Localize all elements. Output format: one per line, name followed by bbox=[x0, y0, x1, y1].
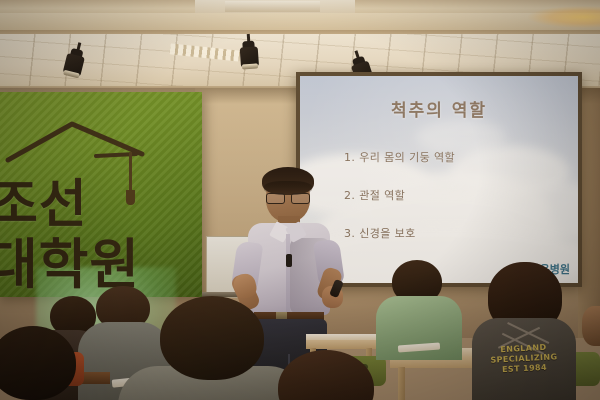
audience-head-foreground bbox=[0, 326, 76, 400]
shirt-placket bbox=[286, 234, 290, 312]
ceiling-pipe bbox=[225, 1, 320, 12]
green-banner: 조선 대학원 Chosun University 조선대학교 bbox=[0, 92, 202, 297]
glasses-icon bbox=[266, 193, 310, 202]
audience-head-foreground bbox=[160, 296, 264, 380]
ceiling-band bbox=[0, 13, 600, 31]
cap-tassel bbox=[129, 152, 132, 192]
ceiling-warm-light-glow bbox=[528, 6, 600, 28]
audience-arm-far-right bbox=[582, 306, 600, 346]
slide-bullet-3: 3. 신경을 보호 bbox=[344, 228, 564, 239]
slide-bullet-2: 2. 관절 역할 bbox=[344, 190, 564, 201]
tshirt-print-text: ENGLAND SPECIALIZING EST 1984 bbox=[477, 342, 570, 377]
track-spotlight-icon bbox=[239, 33, 259, 70]
lecture-photo-scene: 조선 대학원 Chosun University 조선대학교 척추의 역할 1.… bbox=[0, 0, 600, 400]
presenter-hair bbox=[262, 167, 314, 195]
slide-title: 척추의 역할 bbox=[300, 96, 578, 121]
desk-leg bbox=[398, 367, 405, 400]
slide-bullet-list: 1. 우리 몸의 기둥 역할 2. 관절 역할 3. 신경을 보호 bbox=[344, 152, 564, 266]
lapel-microphone-icon bbox=[286, 254, 292, 267]
graduation-cap-icon bbox=[4, 120, 146, 164]
slide-bullet-1: 1. 우리 몸의 기둥 역할 bbox=[344, 152, 564, 163]
